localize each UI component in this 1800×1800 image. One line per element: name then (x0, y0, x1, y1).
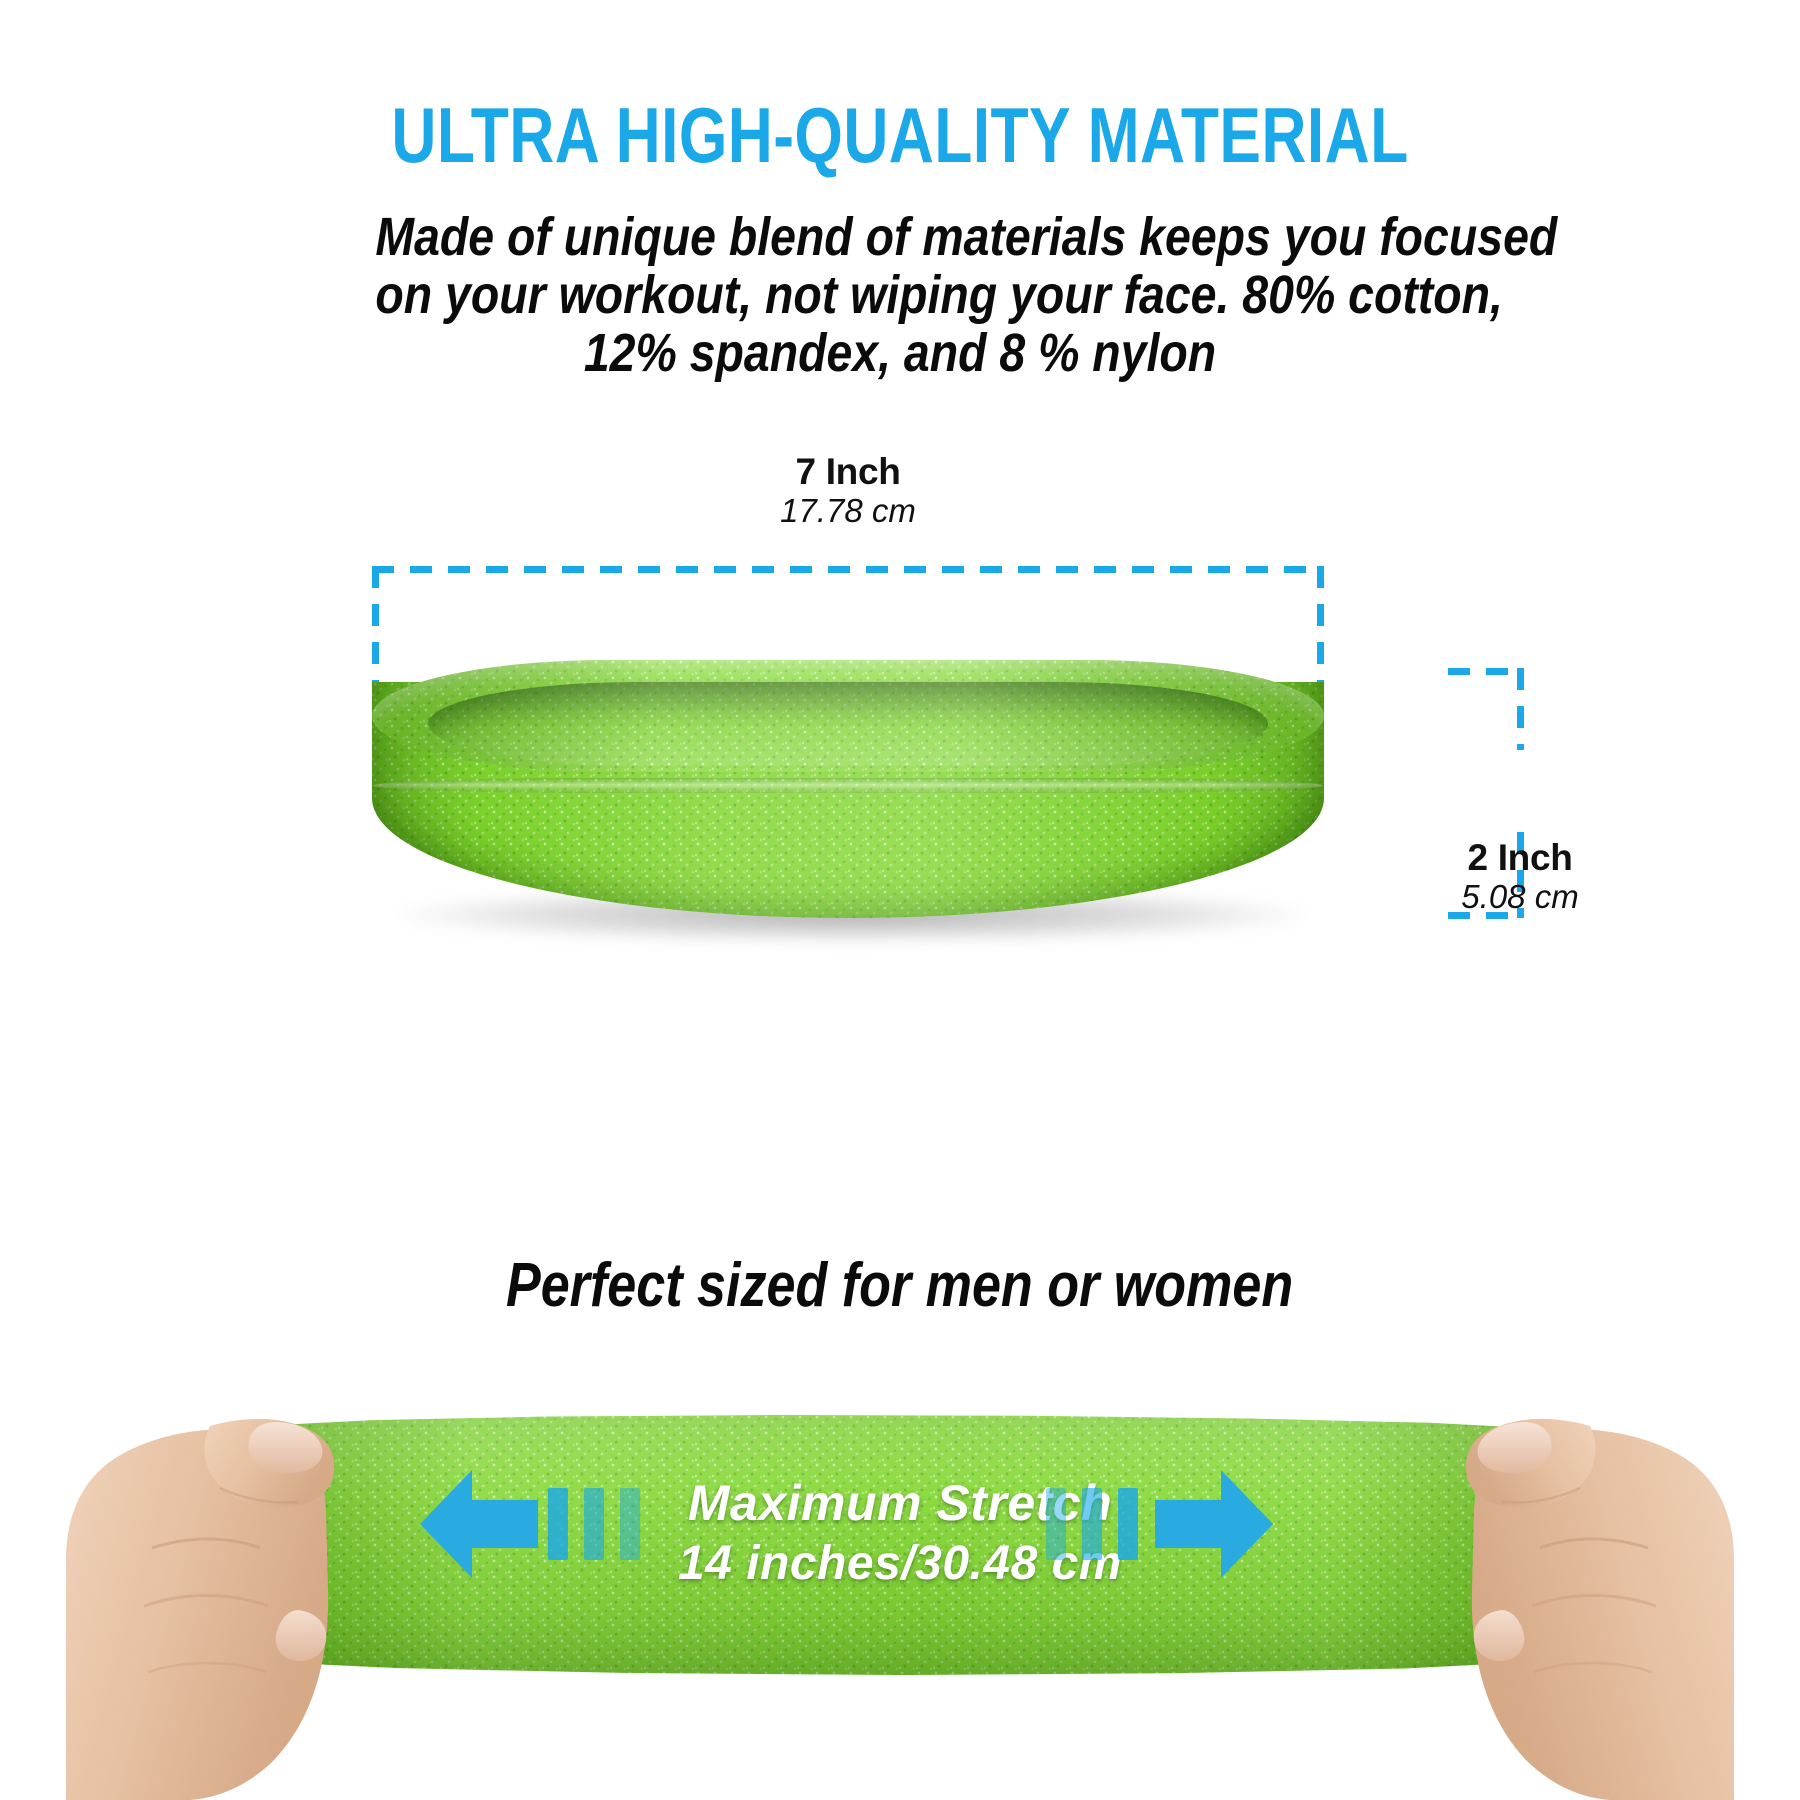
infographic-canvas: ULTRA HIGH-QUALITY MATERIAL Made of uniq… (0, 0, 1800, 1800)
headband-seam (373, 778, 1323, 793)
headband-inner-opening (428, 682, 1268, 766)
arrow-right-icon (1155, 1470, 1273, 1578)
description-line-1: Made of unique blend of materials keeps … (375, 208, 1424, 266)
max-stretch-value: 14 inches/30.48 cm (560, 1534, 1240, 1594)
size-tagline: Perfect sized for men or women (0, 1250, 1800, 1321)
width-dimension-label: 7 Inch 17.78 cm (648, 452, 1048, 530)
height-dimension-label: 2 Inch 5.08 cm (1380, 838, 1660, 916)
size-tagline-text: Perfect sized for men or women (506, 1250, 1293, 1321)
width-dimension-line (372, 566, 1324, 573)
max-stretch-label: Maximum Stretch (560, 1472, 1240, 1534)
height-dimension-line-top (1517, 668, 1524, 750)
description-line-2: on your workout, not wiping your face. 8… (375, 266, 1424, 324)
product-description: Made of unique blend of materials keeps … (290, 208, 1510, 382)
arrow-left-icon (420, 1470, 538, 1578)
motion-bar-right-1 (1046, 1488, 1066, 1560)
motion-bar-right-3 (1118, 1488, 1138, 1560)
stretch-demo-scene: Maximum Stretch 14 inches/30.48 cm (0, 1360, 1800, 1800)
page-title: ULTRA HIGH-QUALITY MATERIAL (180, 96, 1620, 174)
description-line-3: 12% spandex, and 8 % nylon (375, 324, 1424, 382)
width-cm-value: 17.78 cm (648, 492, 1048, 530)
left-hand-gripping-headband (60, 1360, 390, 1800)
height-dimension-tick-top (1448, 668, 1524, 675)
motion-bar-right-2 (1082, 1488, 1102, 1560)
max-stretch-callout: Maximum Stretch 14 inches/30.48 cm (560, 1472, 1240, 1594)
height-cm-value: 5.08 cm (1380, 878, 1660, 916)
green-terry-headband (372, 660, 1324, 940)
width-inch-value: 7 Inch (648, 452, 1048, 492)
right-hand-gripping-headband (1410, 1360, 1740, 1800)
height-inch-value: 2 Inch (1380, 838, 1660, 878)
headband-top-rim (372, 660, 1324, 772)
